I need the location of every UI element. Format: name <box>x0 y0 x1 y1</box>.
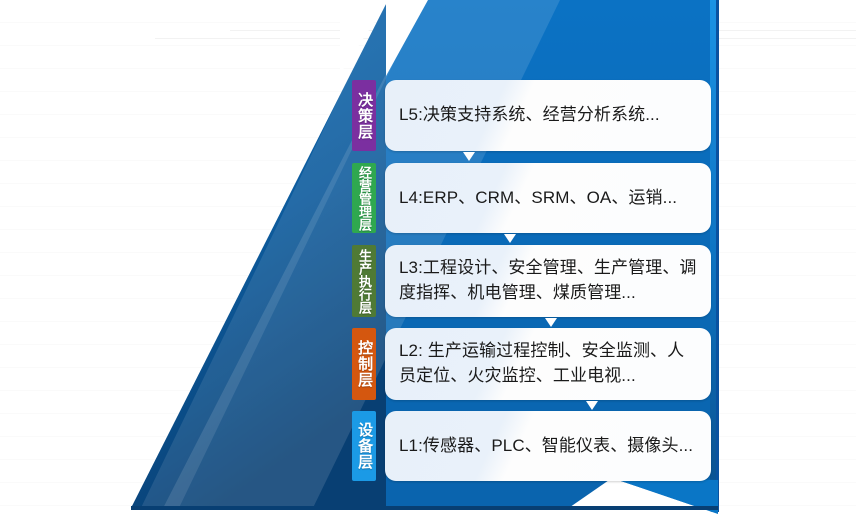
tier-rows: 决策层 L5:决策支持系统、经营分析系统... 经营管理层 L4:ERP、CRM… <box>0 0 856 514</box>
tier-row-l3[interactable]: 生产执行层 L3:工程设计、安全管理、生产管理、调度指挥、机电管理、煤质管理..… <box>352 245 711 317</box>
tier-box-l1[interactable]: L1:传感器、PLC、智能仪表、摄像头... <box>385 411 711 481</box>
tier-text-l1: L1:传感器、PLC、智能仪表、摄像头... <box>399 434 693 459</box>
tier-label-production-execution[interactable]: 生产执行层 <box>352 245 376 317</box>
pyramid-diagram-canvas: 决策层 L5:决策支持系统、经营分析系统... 经营管理层 L4:ERP、CRM… <box>0 0 856 514</box>
tier-box-l3[interactable]: L3:工程设计、安全管理、生产管理、调度指挥、机电管理、煤质管理... <box>385 245 711 317</box>
tier-text-l2: L2: 生产运输过程控制、安全监测、人员定位、火灾监控、工业电视... <box>399 339 697 388</box>
tier-label-business-management[interactable]: 经营管理层 <box>352 163 376 233</box>
connector-arrow-l4-l3 <box>504 234 516 243</box>
tier-row-l5[interactable]: 决策层 L5:决策支持系统、经营分析系统... <box>352 80 711 151</box>
tier-row-l1[interactable]: 设备层 L1:传感器、PLC、智能仪表、摄像头... <box>352 411 711 481</box>
tier-row-l4[interactable]: 经营管理层 L4:ERP、CRM、SRM、OA、运销... <box>352 163 711 233</box>
tier-box-l2[interactable]: L2: 生产运输过程控制、安全监测、人员定位、火灾监控、工业电视... <box>385 328 711 400</box>
tier-text-l3: L3:工程设计、安全管理、生产管理、调度指挥、机电管理、煤质管理... <box>399 256 697 305</box>
tier-box-l5[interactable]: L5:决策支持系统、经营分析系统... <box>385 80 711 151</box>
tier-row-l2[interactable]: 控制层 L2: 生产运输过程控制、安全监测、人员定位、火灾监控、工业电视... <box>352 328 711 400</box>
connector-arrow-l2-l1 <box>586 401 598 410</box>
tier-label-decision[interactable]: 决策层 <box>352 80 376 151</box>
tier-box-l4[interactable]: L4:ERP、CRM、SRM、OA、运销... <box>385 163 711 233</box>
connector-arrow-l5-l4 <box>463 152 475 161</box>
tier-text-l4: L4:ERP、CRM、SRM、OA、运销... <box>399 186 677 211</box>
tier-text-l5: L5:决策支持系统、经营分析系统... <box>399 103 660 128</box>
connector-arrow-l3-l2 <box>545 318 557 327</box>
tier-label-device[interactable]: 设备层 <box>352 411 376 481</box>
tier-label-control[interactable]: 控制层 <box>352 328 376 400</box>
